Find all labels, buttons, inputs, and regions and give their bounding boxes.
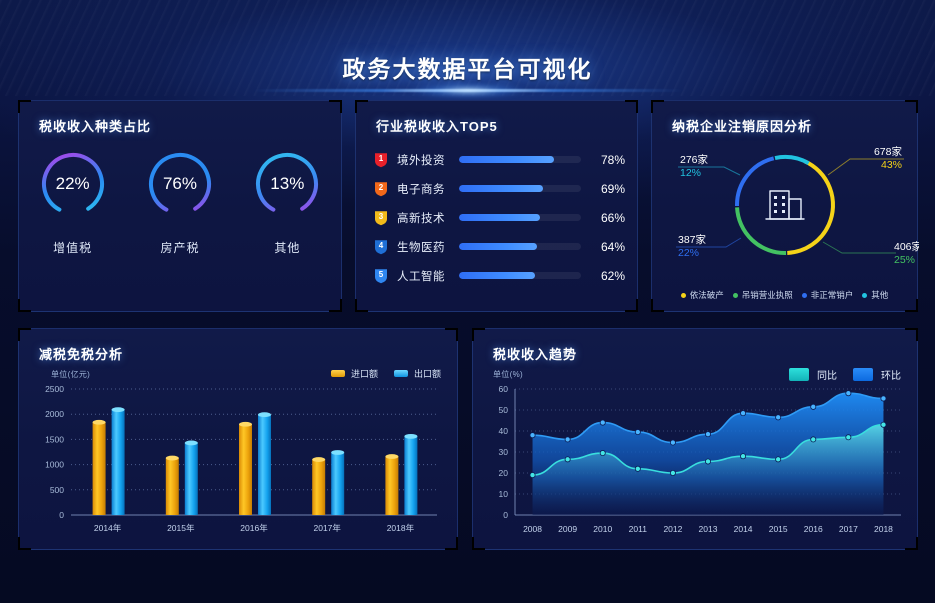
- legend-dot-icon: [733, 293, 738, 298]
- rank-item-label: 高新技术: [397, 210, 455, 226]
- trend-chart-plot: 0102030405060200820092010201120122013201…: [481, 381, 911, 543]
- rank-progress-fill: [459, 156, 554, 163]
- corner-bracket-tl: [18, 328, 31, 341]
- svg-text:2000: 2000: [45, 409, 64, 419]
- corner-bracket-tr: [445, 328, 458, 341]
- rank-progress-track: [459, 185, 581, 192]
- svg-text:2008: 2008: [523, 524, 542, 534]
- rank-progress-fill: [459, 214, 540, 221]
- axis-unit-label-trend: 单位(%): [493, 369, 523, 380]
- data-point-huanbi: [881, 396, 886, 401]
- legend-label: 吊销营业执照: [742, 289, 793, 301]
- gauge-value: 76%: [145, 149, 215, 219]
- legend-item[interactable]: 其他: [862, 289, 888, 301]
- donut-percent-label: 22%: [678, 247, 699, 259]
- panel-title-top5: 行业税收收入TOP5: [376, 116, 498, 135]
- axis-unit-label-reduction: 单位(亿元): [51, 369, 90, 380]
- rank-progress-track: [459, 214, 581, 221]
- data-point-tongbi: [740, 454, 745, 459]
- corner-bracket-tl: [18, 100, 31, 113]
- gauge-label: 房产税: [160, 239, 199, 256]
- bar-export: [112, 410, 125, 515]
- panel-industry-tax-top5: 行业税收收入TOP5 1境外投资78%2电子商务69%3高新技术66%4生物医药…: [355, 100, 638, 312]
- data-point-tongbi: [705, 459, 710, 464]
- rank-progress-fill: [459, 185, 543, 192]
- rank-percent-value: 66%: [591, 211, 625, 225]
- legend-item[interactable]: 出口额: [394, 367, 441, 380]
- bar-import: [385, 457, 398, 515]
- panel-title-cancel-reasons: 纳税企业注销原因分析: [672, 116, 812, 135]
- corner-bracket-br: [329, 299, 342, 312]
- data-point-huanbi: [600, 420, 605, 425]
- data-point-tongbi: [776, 457, 781, 462]
- svg-text:2016: 2016: [804, 524, 823, 534]
- rank-percent-value: 64%: [591, 240, 625, 254]
- bar-export: [404, 436, 417, 515]
- data-point-tongbi: [635, 466, 640, 471]
- corner-bracket-tr: [625, 100, 638, 113]
- page-title: 政务大数据平台可视化: [0, 50, 935, 84]
- gauge-item-3: 13%其他: [234, 149, 341, 256]
- legend-label: 环比: [881, 367, 901, 382]
- rank-progress-track: [459, 156, 581, 163]
- rank-shield-badge-icon: 1: [374, 152, 388, 168]
- corner-bracket-br: [445, 537, 458, 550]
- rank-shield-badge-icon: 3: [374, 210, 388, 226]
- gauge-item-2: 76%房产税: [126, 149, 233, 256]
- legend-swatch-icon: [789, 368, 809, 381]
- data-point-tongbi: [600, 450, 605, 455]
- corner-bracket-bl: [355, 299, 368, 312]
- panel-title-tax-types: 税收收入种类占比: [39, 116, 151, 135]
- corner-bracket-bl: [18, 299, 31, 312]
- data-point-huanbi: [811, 404, 816, 409]
- svg-text:2018年: 2018年: [387, 523, 415, 533]
- data-point-huanbi: [530, 433, 535, 438]
- donut-percent-label: 12%: [680, 167, 701, 179]
- legend-label: 依法破产: [690, 289, 724, 301]
- svg-text:1500: 1500: [45, 434, 64, 444]
- svg-text:2017年: 2017年: [313, 523, 341, 533]
- data-point-huanbi: [705, 432, 710, 437]
- rank-percent-value: 78%: [591, 153, 625, 167]
- svg-text:2013: 2013: [699, 524, 718, 534]
- rank-shield-badge-icon: 4: [374, 239, 388, 255]
- bar-import: [166, 458, 179, 515]
- svg-text:2018: 2018: [874, 524, 893, 534]
- svg-text:2500: 2500: [45, 384, 64, 394]
- bar-import: [312, 460, 325, 515]
- svg-text:2014年: 2014年: [94, 523, 122, 533]
- svg-text:0: 0: [503, 510, 508, 520]
- rank-progress-fill: [459, 243, 537, 250]
- svg-text:50: 50: [499, 405, 509, 415]
- data-point-tongbi: [881, 422, 886, 427]
- rank-row[interactable]: 4生物医药64%: [374, 232, 625, 261]
- donut-percent-label: 25%: [894, 254, 915, 266]
- legend-item[interactable]: 吊销营业执照: [733, 289, 793, 301]
- donut-count-label: 406家: [894, 240, 919, 253]
- rank-item-label: 生物医药: [397, 239, 455, 255]
- gauge-group: 22%增值税76%房产税13%其他: [19, 149, 341, 256]
- legend-item[interactable]: 同比: [789, 367, 837, 382]
- donut-count-label: 387家: [678, 233, 707, 246]
- data-point-huanbi: [846, 391, 851, 396]
- legend-dot-icon: [862, 293, 867, 298]
- rank-row[interactable]: 1境外投资78%: [374, 145, 625, 174]
- svg-text:2011: 2011: [629, 524, 648, 534]
- panel-tax-reduction-analysis: 减税免税分析 单位(亿元) 进口额出口额 0500100015002000250…: [18, 328, 458, 550]
- bar-chart-plot: 050010001500200025002014年2015年2016年2017年…: [33, 381, 445, 541]
- gauge-value: 13%: [252, 149, 322, 219]
- donut-count-label: 276家: [680, 153, 709, 166]
- panel-title-trend: 税收收入趋势: [493, 344, 577, 363]
- svg-text:2017: 2017: [839, 524, 858, 534]
- svg-text:2016年: 2016年: [240, 523, 268, 533]
- legend-label: 同比: [817, 367, 837, 382]
- legend-item[interactable]: 非正常销户: [802, 289, 854, 301]
- bar-export: [258, 415, 271, 515]
- legend-swatch-icon: [853, 368, 873, 381]
- data-point-tongbi: [811, 437, 816, 442]
- rank-percent-value: 62%: [591, 269, 625, 283]
- gauge-ring: 13%: [252, 149, 322, 219]
- rank-progress-track: [459, 272, 581, 279]
- donut-percent-label: 43%: [881, 159, 902, 171]
- corner-bracket-tr: [905, 328, 918, 341]
- legend-dot-icon: [802, 293, 807, 298]
- header-light-glow: [408, 83, 528, 98]
- bar-import: [239, 424, 252, 515]
- svg-text:2015: 2015: [769, 524, 788, 534]
- data-point-huanbi: [670, 440, 675, 445]
- gauge-ring: 76%: [145, 149, 215, 219]
- rank-progress-fill: [459, 272, 535, 279]
- gauge-label: 其他: [274, 239, 300, 256]
- data-point-huanbi: [565, 437, 570, 442]
- legend-item[interactable]: 环比: [853, 367, 901, 382]
- donut-count-label: 678家: [874, 145, 903, 158]
- svg-text:30: 30: [499, 447, 509, 457]
- cancellation-legend: 依法破产吊销营业执照非正常销户其他: [652, 289, 917, 301]
- bar-export: [331, 453, 344, 515]
- gauge-label: 增值税: [53, 239, 92, 256]
- legend-dot-icon: [681, 293, 686, 298]
- legend-swatch-icon: [331, 370, 345, 377]
- panel-cancellation-reasons: 纳税企业注销原因分析 678家43%406家25%387家22%276家12% …: [651, 100, 918, 312]
- rank-row[interactable]: 5人工智能62%: [374, 261, 625, 290]
- svg-text:60: 60: [499, 384, 509, 394]
- rank-percent-value: 69%: [591, 182, 625, 196]
- legend-item[interactable]: 进口额: [331, 367, 378, 380]
- rank-item-label: 电子商务: [397, 181, 455, 197]
- corner-bracket-tr: [329, 100, 342, 113]
- rank-shield-badge-icon: 2: [374, 181, 388, 197]
- data-point-huanbi: [776, 415, 781, 420]
- gauge-ring: 22%: [38, 149, 108, 219]
- corner-bracket-tl: [355, 100, 368, 113]
- corner-bracket-tl: [472, 328, 485, 341]
- data-point-huanbi: [740, 411, 745, 416]
- legend-label: 进口额: [351, 367, 378, 380]
- rank-list: 1境外投资78%2电子商务69%3高新技术66%4生物医药64%5人工智能62%: [374, 145, 625, 290]
- legend-swatch-icon: [394, 370, 408, 377]
- bar-export: [185, 443, 198, 515]
- rank-shield-badge-icon: 5: [374, 268, 388, 284]
- data-point-tongbi: [670, 470, 675, 475]
- dashboard-root: 政务大数据平台可视化 税收收入种类占比 22%增值税76%房产税13%其他 行业…: [0, 0, 935, 603]
- svg-text:2015年: 2015年: [167, 523, 195, 533]
- panel-tax-income-trend: 税收收入趋势 单位(%) 同比环比 0102030405060200820092…: [472, 328, 918, 550]
- svg-text:10: 10: [499, 489, 509, 499]
- data-point-tongbi: [565, 457, 570, 462]
- rank-item-label: 境外投资: [397, 152, 455, 168]
- svg-text:500: 500: [50, 485, 64, 495]
- svg-text:2012: 2012: [663, 524, 682, 534]
- corner-bracket-tr: [905, 100, 918, 113]
- data-point-tongbi: [530, 473, 535, 478]
- svg-text:1000: 1000: [45, 460, 64, 470]
- svg-text:0: 0: [59, 510, 64, 520]
- corner-bracket-br: [625, 299, 638, 312]
- rank-progress-track: [459, 243, 581, 250]
- trend-chart-legend: 同比环比: [789, 367, 901, 382]
- corner-bracket-tl: [651, 100, 664, 113]
- svg-text:20: 20: [499, 468, 509, 478]
- panel-title-reduction: 减税免税分析: [39, 344, 123, 363]
- rank-row[interactable]: 3高新技术66%: [374, 203, 625, 232]
- legend-item[interactable]: 依法破产: [681, 289, 724, 301]
- bar-import: [93, 422, 106, 515]
- gauge-item-1: 22%增值税: [19, 149, 126, 256]
- cancellation-donut-chart: 678家43%406家25%387家22%276家12%: [652, 135, 917, 275]
- svg-text:2014: 2014: [734, 524, 753, 534]
- rank-row[interactable]: 2电子商务69%: [374, 174, 625, 203]
- bar-chart-legend: 进口额出口额: [331, 367, 441, 380]
- corner-bracket-bl: [18, 537, 31, 550]
- rank-item-label: 人工智能: [397, 268, 455, 284]
- svg-text:40: 40: [499, 426, 509, 436]
- data-point-tongbi: [846, 435, 851, 440]
- legend-label: 非正常销户: [811, 289, 854, 301]
- panel-tax-income-types: 税收收入种类占比 22%增值税76%房产税13%其他: [18, 100, 342, 312]
- gauge-value: 22%: [38, 149, 108, 219]
- legend-label: 其他: [871, 289, 888, 301]
- svg-text:2010: 2010: [593, 524, 612, 534]
- svg-text:2009: 2009: [558, 524, 577, 534]
- legend-label: 出口额: [414, 367, 441, 380]
- dashboard-header: 政务大数据平台可视化: [0, 0, 935, 96]
- data-point-huanbi: [635, 429, 640, 434]
